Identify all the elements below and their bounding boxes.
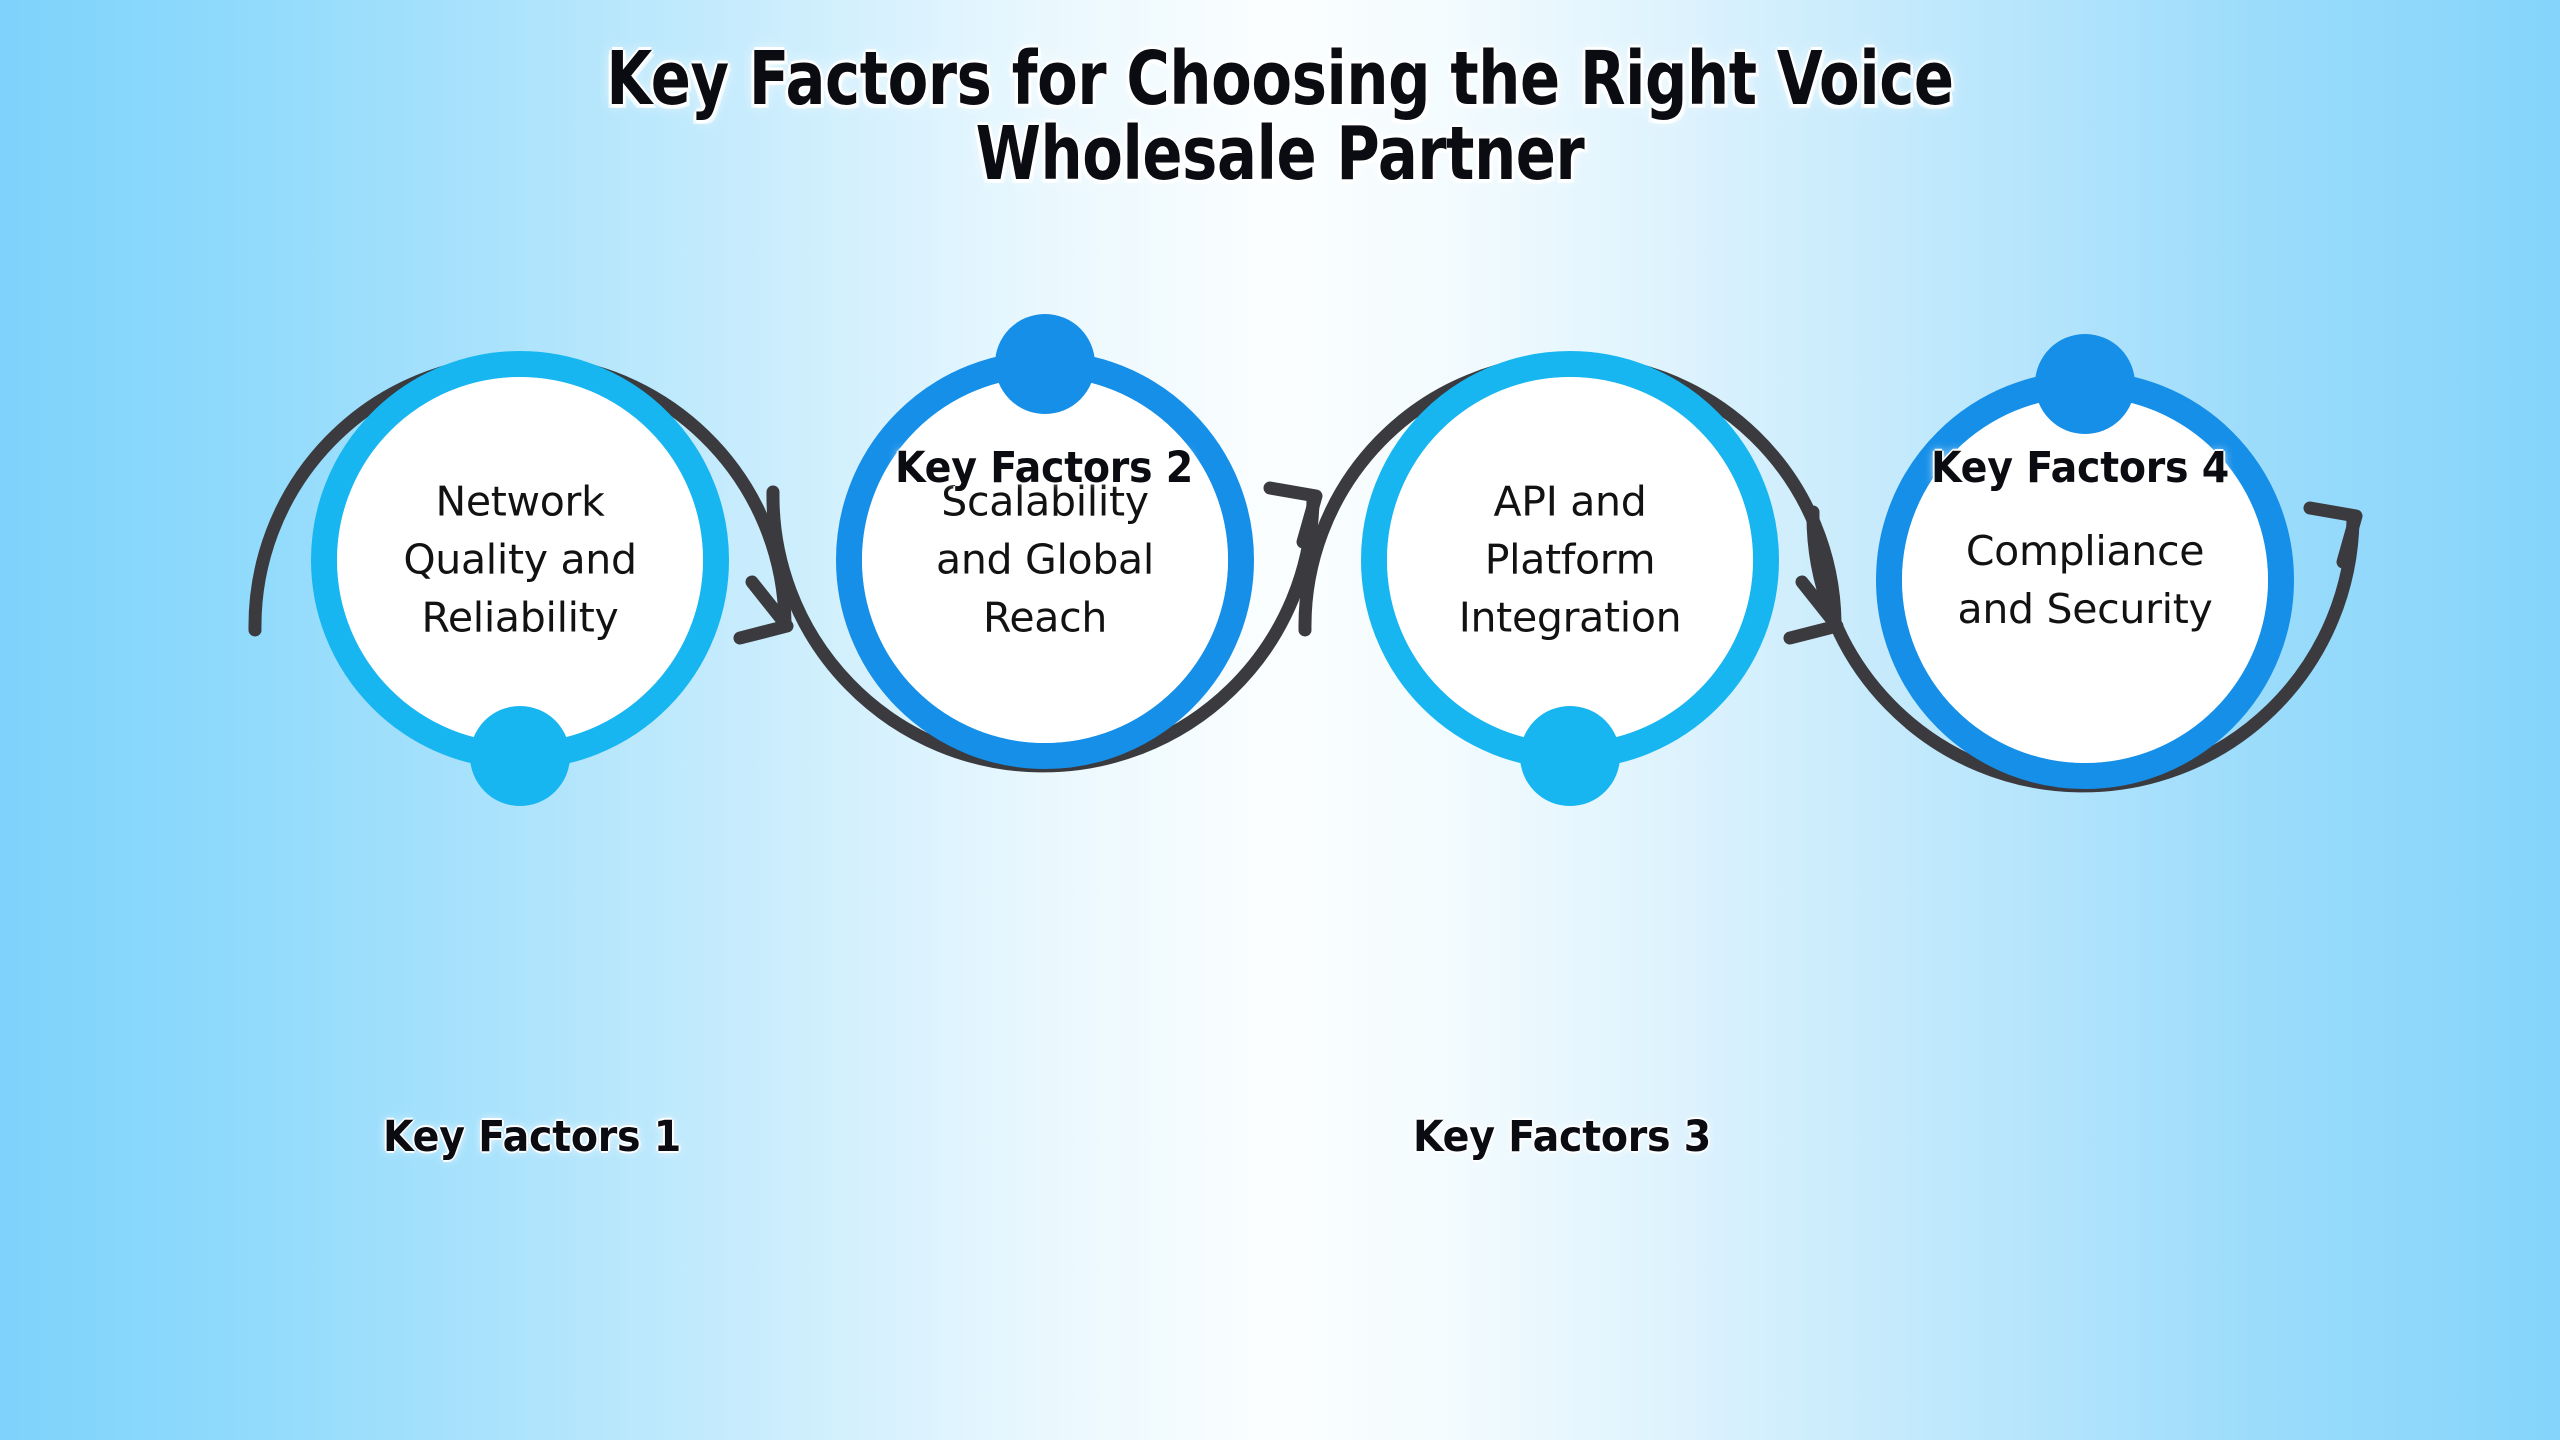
- accent-dot-1: [470, 706, 570, 806]
- step-node-2-graphic: [815, 330, 1275, 790]
- step-node-2[interactable]: Scalability and Global Reach: [815, 330, 1275, 790]
- step-caption-2: Key Factors 2: [895, 443, 1193, 493]
- page-title: Key Factors for Choosing the Right Voice…: [0, 42, 2560, 193]
- accent-dot-2: [995, 314, 1095, 414]
- disc-3: [1387, 377, 1753, 743]
- step-caption-1: Key Factors 1: [383, 1112, 681, 1162]
- step-node-4-graphic: [1855, 350, 2315, 810]
- step-node-1-graphic: [290, 330, 750, 790]
- step-node-3[interactable]: API and Platform Integration: [1340, 330, 1800, 790]
- disc-2: [862, 377, 1228, 743]
- title-line-2: Wholesale Partner: [256, 117, 2304, 192]
- step-node-4[interactable]: Compliance and Security: [1855, 350, 2315, 810]
- accent-dot-4: [2035, 334, 2135, 434]
- step-node-1[interactable]: Network Quality and Reliability: [290, 330, 750, 790]
- infographic-canvas: Key Factors for Choosing the Right Voice…: [0, 0, 2560, 1440]
- step-node-3-graphic: [1340, 330, 1800, 790]
- step-caption-4: Key Factors 4: [1931, 443, 2229, 493]
- step-caption-3: Key Factors 3: [1413, 1112, 1711, 1162]
- accent-dot-3: [1520, 706, 1620, 806]
- disc-1: [337, 377, 703, 743]
- title-line-1: Key Factors for Choosing the Right Voice: [256, 42, 2304, 117]
